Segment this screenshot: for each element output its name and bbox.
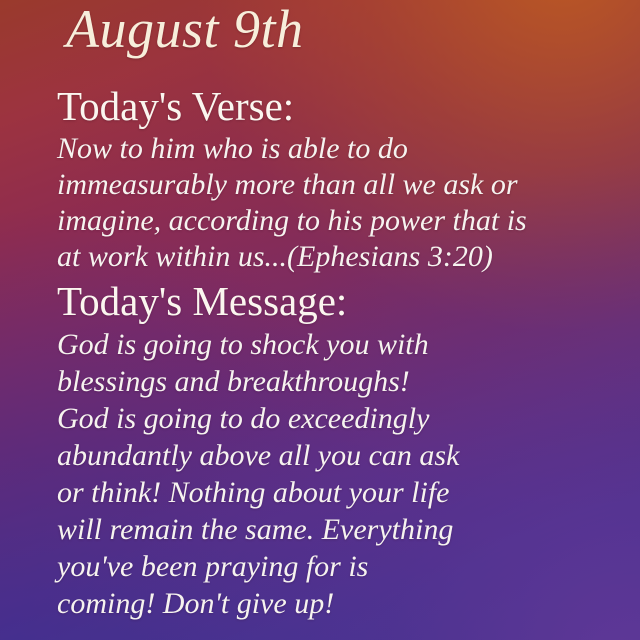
verse-line: Now to him who is able to do [57,131,628,167]
verse-line: at work within us...(Ephesians 3:20) [57,239,628,275]
message-line: coming! Don't give up! [57,585,628,622]
message-line: you've been praying for is [57,548,628,585]
message-heading: Today's Message: [57,281,628,322]
message-line: God is going to shock you with [57,326,628,363]
message-line: abundantly above all you can ask [57,437,628,474]
verse-line: immeasurably more than all we ask or [57,167,628,203]
verse-line: imagine, according to his power that is [57,203,628,239]
verse-section: Today's Verse: Now to him who is able to… [57,86,628,275]
date-title: August 9th [66,0,304,60]
message-line: blessings and breakthroughs! [57,363,628,400]
devotional-card: August 9th Today's Verse: Now to him who… [0,0,640,640]
message-line: will remain the same. Everything [57,511,628,548]
message-line: God is going to do exceedingly [57,400,628,437]
verse-text: Now to him who is able to do immeasurabl… [57,131,628,275]
verse-heading: Today's Verse: [57,86,628,127]
message-section: Today's Message: God is going to shock y… [57,281,628,622]
message-text: God is going to shock you with blessings… [57,326,628,622]
message-line: or think! Nothing about your life [57,474,628,511]
